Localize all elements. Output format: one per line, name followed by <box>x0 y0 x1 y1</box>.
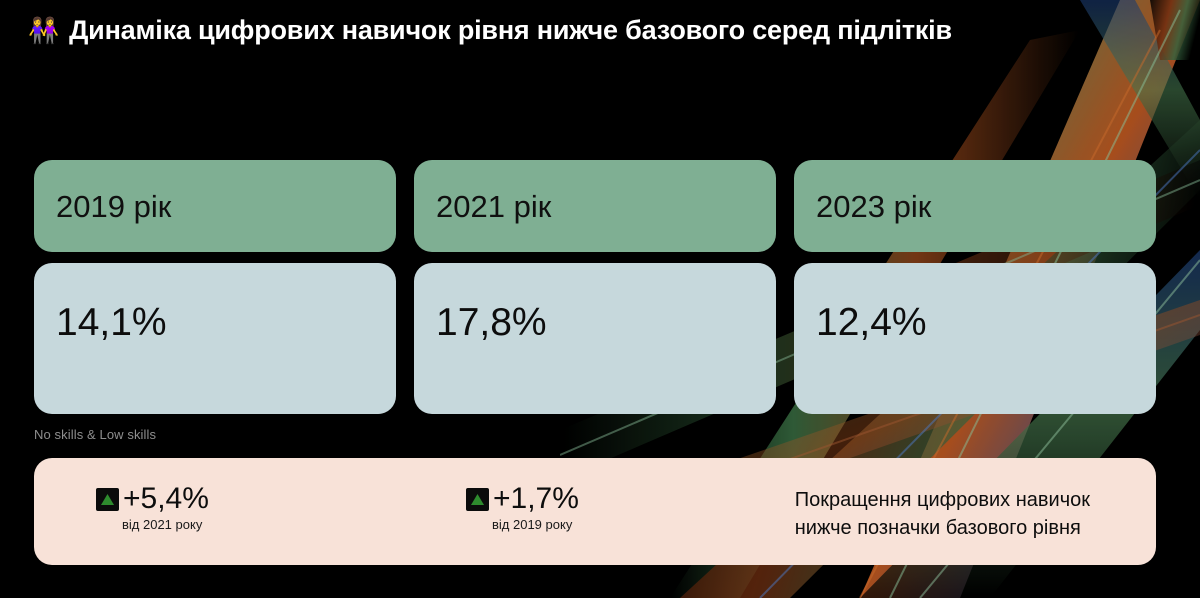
triangle-up-icon <box>96 488 119 511</box>
delta-main-row: +1,7% <box>466 484 579 514</box>
value-card-2021: 17,8% <box>414 263 776 414</box>
year-label: 2023 рік <box>816 191 931 222</box>
page-title: 👭 Динаміка цифрових навичок рівня нижче … <box>28 16 952 46</box>
value-label: 14,1% <box>56 303 167 342</box>
delta-value: +1,7% <box>493 484 579 514</box>
year-label: 2021 рік <box>436 191 551 222</box>
year-label: 2019 рік <box>56 191 171 222</box>
footer-note: Покращення цифрових навичок нижче познач… <box>795 486 1090 543</box>
footer-note-line-1: Покращення цифрових навичок <box>795 486 1090 514</box>
footer-note-line-2: нижче позначки базового рівня <box>795 514 1090 542</box>
year-card-2021: 2021 рік <box>414 160 776 252</box>
series-caption: No skills & Low skills <box>34 427 156 442</box>
stat-column-2021: 2021 рік 17,8% <box>414 160 776 414</box>
delta-main-row: +5,4% <box>96 484 209 514</box>
stat-column-2019: 2019 рік 14,1% <box>34 160 396 414</box>
delta-since-label: від 2019 року <box>466 518 579 532</box>
year-card-2023: 2023 рік <box>794 160 1156 252</box>
stat-card-grid: 2019 рік 14,1% 2021 рік 17,8% 2023 рік 1… <box>34 160 1156 414</box>
page-title-text: Динаміка цифрових навичок рівня нижче ба… <box>69 16 952 46</box>
delta-indicator-1: +5,4% від 2021 року <box>96 484 209 532</box>
value-label: 12,4% <box>816 303 927 342</box>
delta-indicator-2: +1,7% від 2019 року <box>466 484 579 532</box>
delta-value: +5,4% <box>123 484 209 514</box>
year-card-2019: 2019 рік <box>34 160 396 252</box>
value-card-2019: 14,1% <box>34 263 396 414</box>
slide-root: 👭 Динаміка цифрових навичок рівня нижче … <box>0 0 1200 598</box>
value-label: 17,8% <box>436 303 547 342</box>
stat-column-2023: 2023 рік 12,4% <box>794 160 1156 414</box>
triangle-up-icon <box>466 488 489 511</box>
two-women-holding-hands-icon: 👭 <box>28 18 59 43</box>
delta-since-label: від 2021 року <box>96 518 209 532</box>
value-card-2023: 12,4% <box>794 263 1156 414</box>
footer-summary-bar: +5,4% від 2021 року +1,7% від 2019 року … <box>34 458 1156 565</box>
